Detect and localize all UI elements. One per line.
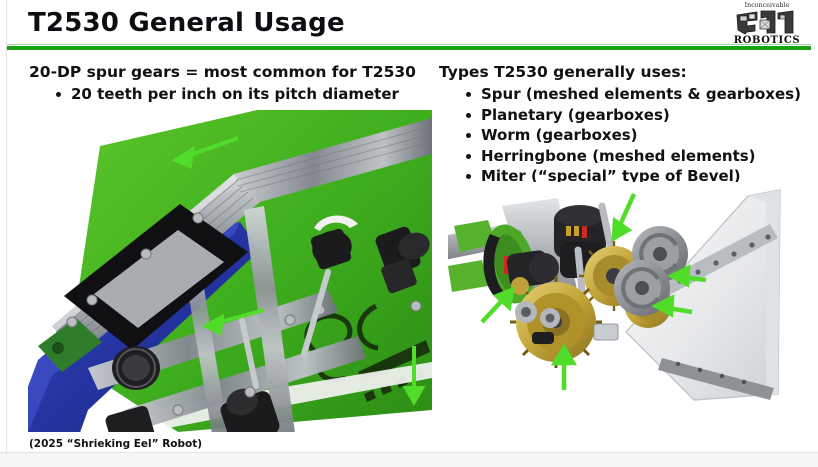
slide: T2530 General Usage Inconceivable ROBOTI… bbox=[0, 0, 818, 467]
robot-chassis-svg bbox=[28, 110, 432, 432]
list-item: Herringbone (meshed elements) bbox=[481, 146, 801, 167]
bottom-band bbox=[0, 452, 818, 467]
list-item: 20 teeth per inch on its pitch diameter bbox=[71, 84, 399, 104]
list-item: Spur (meshed elements & gearboxes) bbox=[481, 84, 801, 105]
logo-wordmark: ROBOTICS bbox=[728, 35, 806, 46]
page-title: T2530 General Usage bbox=[28, 8, 345, 38]
right-column-heading: Types T2530 generally uses: bbox=[439, 63, 687, 81]
gearbox-assembly-svg bbox=[448, 182, 810, 422]
list-item: Worm (gearboxes) bbox=[481, 125, 801, 146]
right-column-bullet-list: Spur (meshed elements & gearboxes) Plane… bbox=[459, 84, 801, 187]
left-column-heading: 20-DP spur gears = most common for T2530 bbox=[29, 63, 416, 81]
title-underline-hairline bbox=[7, 44, 811, 45]
gearbox-assembly-render bbox=[448, 182, 810, 422]
title-underline bbox=[7, 46, 811, 50]
brand-logo: Inconceivable ROBOTICS bbox=[728, 2, 806, 46]
robot-1-logo-icon bbox=[731, 9, 803, 35]
robot-chassis-render bbox=[28, 110, 432, 432]
image-caption: (2025 “Shrieking Eel” Robot) bbox=[29, 438, 202, 450]
left-margin-rule bbox=[6, 0, 7, 452]
logo-top-text: Inconceivable bbox=[728, 2, 806, 9]
left-column-bullet-list: 20 teeth per inch on its pitch diameter bbox=[49, 84, 399, 104]
list-item: Planetary (gearboxes) bbox=[481, 105, 801, 126]
